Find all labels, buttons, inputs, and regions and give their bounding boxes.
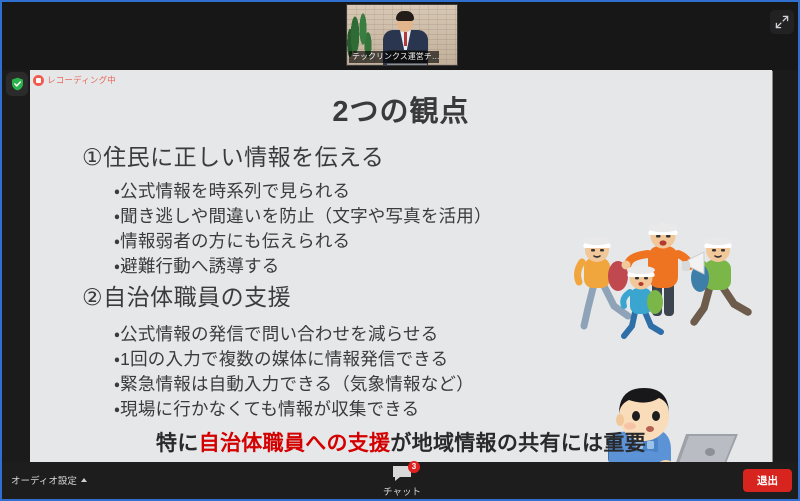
recording-dot-icon (33, 75, 44, 86)
list-item: 緊急情報は自動入力できる（気象情報など） (114, 372, 474, 397)
participant-name-label: テックリンクス運営チ… (349, 51, 439, 63)
evacuating-people-with-megaphone-illustration (560, 220, 756, 342)
list-item: 公式情報を時系列で見られる (114, 179, 492, 204)
chat-unread-badge: 3 (408, 461, 420, 473)
recording-status[interactable]: レコーディング中 (33, 74, 116, 86)
section-heading-2: ②自治体職員の支援 (82, 278, 291, 312)
list-item: 1回の入力で複数の媒体に情報発信できる (114, 347, 474, 372)
person-hair (396, 11, 414, 21)
zoom-meeting-window: テックリンクス運営チ… レコーディング中 2つの観点 ①住民に正しい情報を伝える… (0, 0, 800, 501)
shared-slide: 2つの観点 ①住民に正しい情報を伝える 公式情報を時系列で見られる 聞き逃しや間… (30, 70, 772, 465)
conclusion-prefix: 特に (156, 432, 199, 455)
caret-up-icon[interactable] (81, 478, 87, 482)
list-item: 公式情報の発信で問い合わせを減らせる (114, 322, 474, 347)
meeting-toolbar: オーディオ設定 3 チャット 退出 (2, 462, 800, 499)
list-item: 避難行動へ誘導する (114, 254, 492, 279)
top-bar: テックリンクス運営チ… (2, 2, 800, 70)
leave-meeting-button[interactable]: 退出 (743, 469, 792, 492)
list-item: 情報弱者の方にも伝えられる (114, 229, 492, 254)
audio-settings-label: オーディオ設定 (11, 473, 77, 487)
slide-title: 2つの観点 (30, 88, 772, 130)
conclusion-suffix: が地域情報の共有には重要 (390, 432, 646, 455)
slide-conclusion: 特に自治体職員への支援が地域情報の共有には重要 (30, 427, 772, 457)
recording-label: レコーディング中 (47, 74, 116, 86)
self-video-thumbnail[interactable]: テックリンクス運営チ… (346, 4, 458, 66)
list-item: 聞き逃しや間違いを防止（文字や写真を活用） (114, 204, 492, 229)
chat-bubble-icon: 3 (391, 464, 413, 483)
chat-label: チャット (383, 484, 421, 498)
conclusion-highlight: 自治体職員への支援 (199, 432, 391, 455)
audio-settings-button[interactable]: オーディオ設定 (11, 473, 87, 487)
expand-arrows-icon[interactable] (770, 10, 794, 34)
list-item: 現場に行かなくても情報が収集できる (114, 397, 474, 422)
chat-button[interactable]: 3 チャット (371, 464, 433, 498)
green-shield-icon[interactable] (6, 72, 28, 96)
section-heading-1: ①住民に正しい情報を伝える (82, 138, 384, 172)
bullet-list-1: 公式情報を時系列で見られる 聞き逃しや間違いを防止（文字や写真を活用） 情報弱者… (114, 179, 492, 279)
bullet-list-2: 公式情報の発信で問い合わせを減らせる 1回の入力で複数の媒体に情報発信できる 緊… (114, 322, 474, 422)
person-tie (404, 32, 407, 46)
